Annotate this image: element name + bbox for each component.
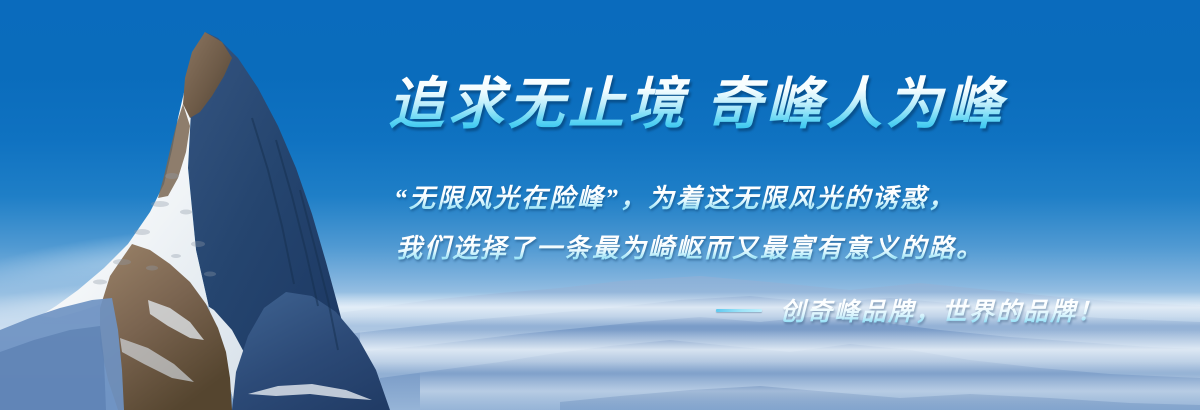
banner-headline: 追求无止境 奇峰人为峰	[388, 74, 1028, 136]
banner-copy: 追求无止境 奇峰人为峰 “无限风光在险峰”，为着这无限风光的诱惑， 我们选择了一…	[380, 0, 1040, 410]
banner-attribution: 创奇峰品牌，世界的品牌！	[780, 292, 1104, 328]
hero-banner: 追求无止境 奇峰人为峰 “无限风光在险峰”，为着这无限风光的诱惑， 我们选择了一…	[0, 0, 1200, 410]
banner-subtitle-line-2: 我们选择了一条最为崎岖而又最富有意义的路。	[396, 228, 984, 265]
banner-subtitle-line-1: “无限风光在险峰”，为着这无限风光的诱惑，	[394, 178, 956, 215]
banner-attribution-row: 创奇峰品牌，世界的品牌！	[716, 292, 1104, 328]
attribution-dash-icon	[716, 309, 762, 312]
